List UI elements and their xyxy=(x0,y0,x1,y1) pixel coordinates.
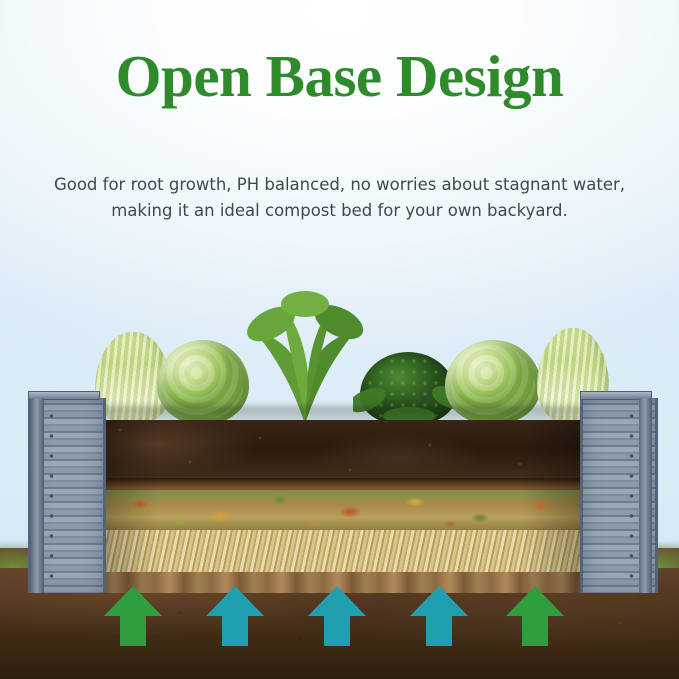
left-corrugated-metal-panel xyxy=(28,398,106,593)
airflow-arrow-up-green xyxy=(104,586,162,646)
airflow-arrow-up-teal xyxy=(410,586,468,646)
subtitle-line-1: Good for root growth, PH balanced, no wo… xyxy=(24,172,655,198)
subtitle-line-2: making it an ideal compost bed for your … xyxy=(24,198,655,224)
raised-garden-bed xyxy=(28,398,652,593)
panel-screws xyxy=(629,406,634,586)
corner-post xyxy=(639,398,652,593)
cross-section-edge-shadow xyxy=(100,420,580,593)
airflow-arrow-up-teal xyxy=(308,586,366,646)
page-title: Open Base Design xyxy=(0,46,679,108)
airflow-arrow-group xyxy=(0,580,679,660)
corner-post xyxy=(31,398,44,593)
right-corrugated-metal-panel xyxy=(580,398,658,593)
airflow-arrow-up-teal xyxy=(206,586,264,646)
page-subtitle: Good for root growth, PH balanced, no wo… xyxy=(0,172,679,223)
product-feature-image: Open Base Design Good for root growth, P… xyxy=(0,0,679,679)
airflow-arrow-up-green xyxy=(506,586,564,646)
panel-screws xyxy=(49,406,54,586)
